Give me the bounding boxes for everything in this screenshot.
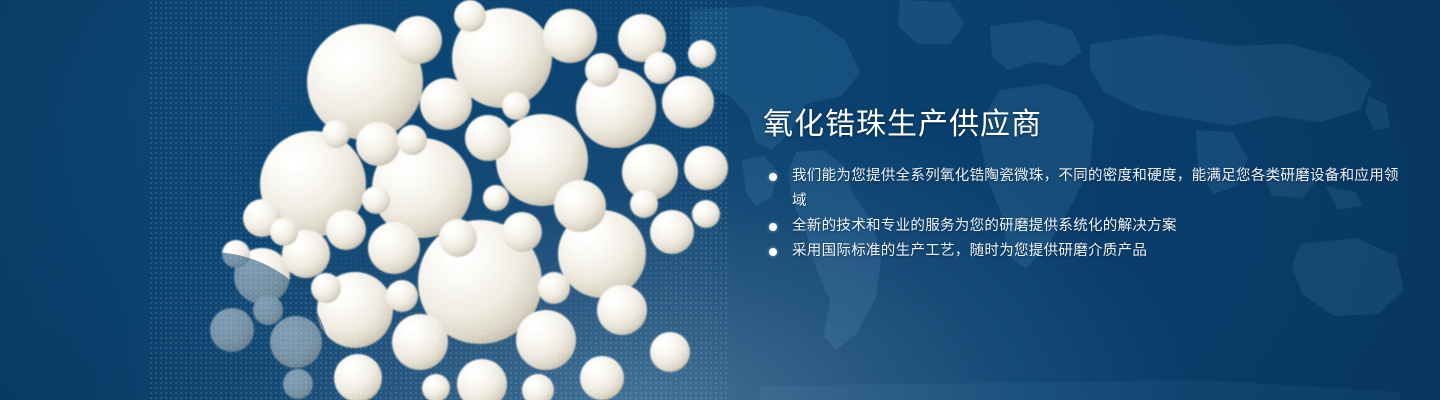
- bullet-dot-icon: [769, 173, 777, 181]
- list-item: 我们能为您提供全系列氧化锆陶瓷微珠，不同的密度和硬度，能满足您各类研磨设备和应用…: [763, 164, 1403, 214]
- list-item: 全新的技术和专业的服务为您的研磨提供系统化的解决方案: [763, 214, 1403, 239]
- banner-content: 氧化锆珠生产供应商 我们能为您提供全系列氧化锆陶瓷微珠，不同的密度和硬度，能满足…: [763, 106, 1403, 264]
- feature-list: 我们能为您提供全系列氧化锆陶瓷微珠，不同的密度和硬度，能满足您各类研磨设备和应用…: [763, 164, 1403, 264]
- bullet-dot-icon: [769, 248, 777, 256]
- list-item-label: 全新的技术和专业的服务为您的研磨提供系统化的解决方案: [792, 218, 1177, 234]
- bullet-dot-icon: [769, 223, 777, 231]
- page-title: 氧化锆珠生产供应商: [763, 106, 1403, 144]
- zirconia-beads-photo: [150, 0, 730, 400]
- list-item: 采用国际标准的生产工艺，随时为您提供研磨介质产品: [763, 239, 1403, 264]
- hero-banner: 氧化锆珠生产供应商 我们能为您提供全系列氧化锆陶瓷微珠，不同的密度和硬度，能满足…: [0, 0, 1440, 400]
- list-item-label: 我们能为您提供全系列氧化锆陶瓷微珠，不同的密度和硬度，能满足您各类研磨设备和应用…: [792, 168, 1399, 209]
- list-item-label: 采用国际标准的生产工艺，随时为您提供研磨介质产品: [792, 243, 1147, 259]
